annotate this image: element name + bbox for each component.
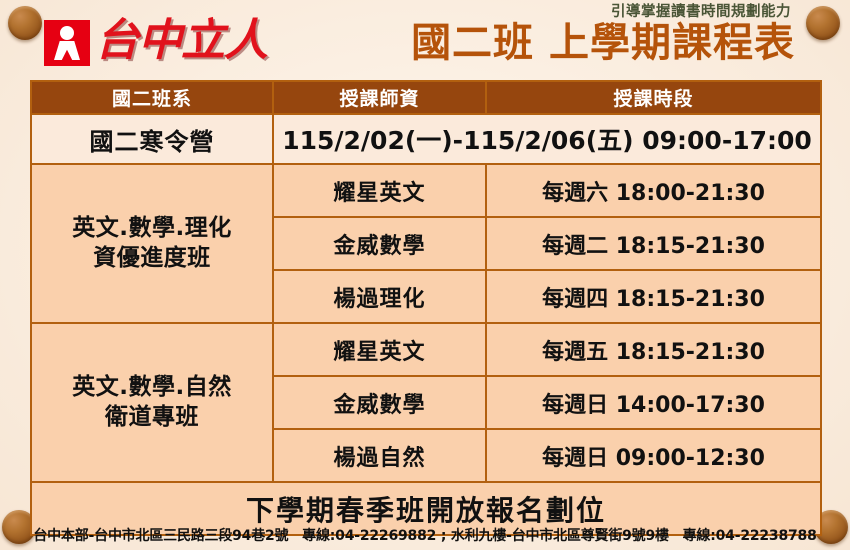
poster-subtitle: 引導掌握讀書時間規劃能力 [411,4,791,21]
group-name-cell-1: 英文.數學.理化 資優進度班 [31,164,273,323]
group-name-line2: 衛道專班 [32,403,272,432]
column-header-class: 國二班系 [31,81,273,114]
table-row: 英文.數學.自然 衛道專班 耀星英文 每週五 18:15-21:30 [31,323,821,376]
course-schedule-poster: 台中立人 引導掌握讀書時間規劃能力 國二班 上學期課程表 國二班系 授課師資 授… [0,0,850,550]
table-row: 英文.數學.理化 資優進度班 耀星英文 每週六 18:00-21:30 [31,164,821,217]
brand-name: 台中立人 [95,19,267,67]
teacher-name: 楊過理化 [273,270,486,323]
teacher-name: 金威數學 [273,376,486,429]
camp-schedule-detail: 115/2/02(一)-115/2/06(五) 09:00-17:00 [273,114,821,164]
page-title: 國二班 上學期課程表 [411,22,795,65]
teacher-name: 耀星英文 [273,164,486,217]
person-mark-icon [44,20,90,66]
camp-class-name: 國二寒令營 [31,114,273,164]
time-slot: 每週四 18:15-21:30 [486,270,821,323]
teacher-name: 金威數學 [273,217,486,270]
person-body-shape [54,41,80,60]
teacher-name: 耀星英文 [273,323,486,376]
group-name-line1: 英文.數學.理化 [32,214,272,243]
time-slot: 每週日 14:00-17:30 [486,376,821,429]
time-slot: 每週二 18:15-21:30 [486,217,821,270]
table-header-row: 國二班系 授課師資 授課時段 [31,81,821,114]
table-row-winter-camp: 國二寒令營 115/2/02(一)-115/2/06(五) 09:00-17:0… [31,114,821,164]
time-slot: 每週日 09:00-12:30 [486,429,821,482]
group-name-cell-2: 英文.數學.自然 衛道專班 [31,323,273,482]
person-head-shape [60,26,74,40]
column-header-time: 授課時段 [486,81,821,114]
time-slot: 每週六 18:00-21:30 [486,164,821,217]
group-name-line2: 資優進度班 [32,244,272,273]
time-slot: 每週五 18:15-21:30 [486,323,821,376]
column-header-teacher: 授課師資 [273,81,486,114]
schedule-table-wrap: 國二班系 授課師資 授課時段 國二寒令營 115/2/02(一)-115/2/0… [30,80,820,536]
poster-header: 台中立人 引導掌握讀書時間規劃能力 國二班 上學期課程表 [0,0,850,82]
brand-logo: 台中立人 [44,19,267,67]
schedule-table: 國二班系 授課師資 授課時段 國二寒令營 115/2/02(一)-115/2/0… [30,80,822,536]
group-name-line1: 英文.數學.自然 [32,373,272,402]
title-block: 引導掌握讀書時間規劃能力 國二班 上學期課程表 [411,4,795,66]
footer-contact-info: 台中本部-台中市北區三民路三段94巷2號 專線:04-22269882 ; 水利… [0,525,850,545]
teacher-name: 楊過自然 [273,429,486,482]
